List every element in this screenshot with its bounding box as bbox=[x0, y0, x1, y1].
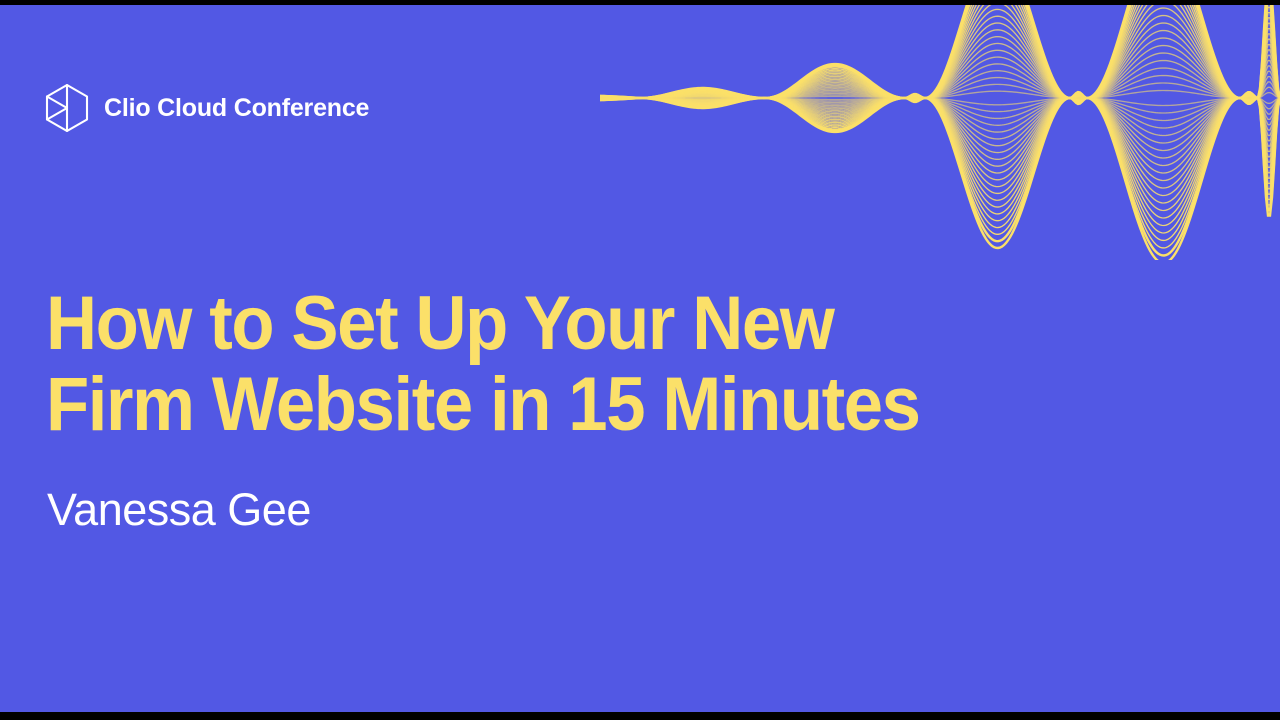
wave-line bbox=[600, 98, 1280, 260]
wave-line bbox=[600, 98, 1280, 158]
wave-line bbox=[600, 5, 1280, 98]
wave-line bbox=[600, 38, 1280, 98]
wave-line bbox=[600, 98, 1280, 248]
slide-canvas: Clio Cloud Conference How to Set Up Your… bbox=[0, 5, 1280, 712]
wave-line bbox=[600, 23, 1280, 98]
wave-line bbox=[600, 98, 1280, 165]
wave-line bbox=[600, 98, 1280, 173]
wave-line bbox=[600, 98, 1280, 150]
wave-line bbox=[600, 8, 1280, 98]
wave-line bbox=[600, 98, 1280, 255]
wave-line bbox=[600, 5, 1280, 98]
letterbox-bar-bottom bbox=[0, 712, 1280, 720]
wave-line bbox=[600, 5, 1280, 98]
wave-line bbox=[600, 98, 1280, 188]
wave-line bbox=[600, 5, 1280, 98]
brand-lockup: Clio Cloud Conference bbox=[44, 83, 369, 133]
wave-line bbox=[600, 98, 1280, 218]
wave-line bbox=[600, 5, 1280, 98]
wave-line bbox=[600, 98, 1280, 128]
brand-name: Clio Cloud Conference bbox=[104, 96, 369, 121]
wave-line bbox=[600, 46, 1280, 98]
sound-wave-graphic bbox=[600, 5, 1280, 260]
wave-line bbox=[600, 61, 1280, 99]
wave-line bbox=[600, 98, 1280, 203]
clio-hexagon-icon bbox=[44, 83, 90, 133]
title-line-1: How to Set Up Your New bbox=[46, 283, 920, 364]
wave-line bbox=[600, 98, 1280, 106]
wave-line bbox=[600, 98, 1280, 121]
wave-line bbox=[600, 5, 1280, 98]
wave-line bbox=[600, 5, 1280, 98]
wave-line bbox=[600, 98, 1280, 180]
sound-wave-svg bbox=[600, 5, 1280, 260]
wave-line bbox=[600, 53, 1280, 98]
wave-line bbox=[600, 98, 1280, 143]
wave-line bbox=[600, 98, 1280, 225]
wave-line bbox=[600, 91, 1280, 99]
wave-line bbox=[600, 16, 1280, 98]
wave-line bbox=[600, 68, 1280, 98]
wave-line bbox=[600, 98, 1280, 113]
wave-line bbox=[600, 98, 1280, 136]
wave-line bbox=[600, 98, 1280, 195]
letterbox-bar-top bbox=[0, 0, 1280, 5]
title-slide: Clio Cloud Conference How to Set Up Your… bbox=[0, 0, 1280, 720]
title-line-2: Firm Website in 15 Minutes bbox=[46, 364, 920, 445]
wave-line bbox=[600, 76, 1280, 99]
wave-line bbox=[600, 83, 1280, 98]
page-title: How to Set Up Your New Firm Website in 1… bbox=[46, 283, 985, 445]
wave-line bbox=[600, 5, 1280, 98]
speaker-name: Vanessa Gee bbox=[47, 484, 311, 536]
wave-line bbox=[600, 98, 1280, 233]
wave-line bbox=[600, 5, 1280, 98]
wave-line bbox=[600, 31, 1280, 98]
wave-line bbox=[600, 98, 1280, 240]
wave-line bbox=[600, 5, 1280, 98]
wave-line bbox=[600, 98, 1280, 210]
